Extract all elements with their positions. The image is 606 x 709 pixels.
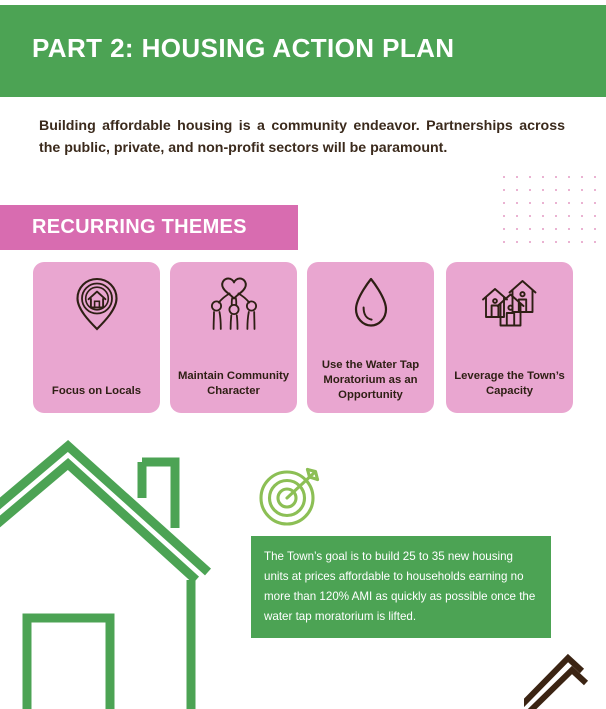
dot-grid-dot (542, 215, 544, 217)
dot-grid-dot (529, 176, 531, 178)
theme-card-label: Use the Water Tap Moratorium as an Oppor… (313, 358, 428, 403)
dot-grid-dot (568, 176, 570, 178)
recurring-themes-label: RECURRING THEMES (32, 216, 247, 239)
theme-card-label: Maintain Community Character (176, 369, 291, 399)
theme-card-water-tap-moratorium[interactable]: Use the Water Tap Moratorium as an Oppor… (307, 262, 434, 413)
community-heart-icon (170, 274, 297, 334)
dot-grid-dot (581, 202, 583, 204)
dot-grid-dot (503, 176, 505, 178)
dot-grid-dot (581, 176, 583, 178)
dot-grid-dot (542, 228, 544, 230)
dot-grid-dot (581, 189, 583, 191)
dot-grid-dot (594, 189, 596, 191)
dot-grid-dot (529, 189, 531, 191)
recurring-themes-banner: RECURRING THEMES (0, 205, 298, 250)
theme-card-focus-on-locals[interactable]: Focus on Locals (33, 262, 160, 413)
dot-grid-dot (516, 189, 518, 191)
theme-card-list: Focus on Locals (33, 262, 573, 413)
page-title: PART 2: HOUSING ACTION PLAN (32, 33, 454, 64)
dot-grid-dot (503, 215, 505, 217)
goal-callout-box: The Town’s goal is to build 25 to 35 new… (251, 536, 551, 638)
dot-grid-dot (594, 176, 596, 178)
location-pin-house-icon (33, 274, 160, 334)
dot-grid-dot (555, 228, 557, 230)
dot-grid-dot (529, 215, 531, 217)
dot-grid-dot (568, 215, 570, 217)
dot-grid-dot (516, 202, 518, 204)
dot-grid-dot (594, 202, 596, 204)
dot-grid-dot (594, 241, 596, 243)
dot-grid-dot (581, 241, 583, 243)
target-arrow-icon (255, 464, 327, 528)
dot-grid-dot (555, 176, 557, 178)
dot-grid-dot (503, 189, 505, 191)
goal-callout-text: The Town’s goal is to build 25 to 35 new… (264, 547, 539, 627)
theme-card-label: Focus on Locals (39, 384, 154, 399)
dot-grid-dot (503, 228, 505, 230)
dot-grid-dot (503, 241, 505, 243)
dot-grid-dot (542, 189, 544, 191)
water-drop-icon (307, 274, 434, 334)
chevron-decoration (524, 645, 606, 709)
dot-grid-dot (555, 202, 557, 204)
dot-grid-dot (581, 215, 583, 217)
dot-grid-dot (542, 202, 544, 204)
dot-grid-dot (555, 241, 557, 243)
three-houses-icon (446, 274, 573, 334)
dot-grid-dot (516, 215, 518, 217)
dot-grid-dot (555, 215, 557, 217)
dot-grid-dot (542, 241, 544, 243)
dot-grid-dot (568, 202, 570, 204)
dot-grid-dot (529, 228, 531, 230)
infographic-page: PART 2: HOUSING ACTION PLAN Building aff… (0, 0, 606, 709)
dot-grid-dot (516, 241, 518, 243)
theme-card-maintain-community-character[interactable]: Maintain Community Character (170, 262, 297, 413)
theme-card-label: Leverage the Town’s Capacity (452, 369, 567, 399)
dot-grid-dot (568, 241, 570, 243)
dot-grid-dot (516, 176, 518, 178)
dot-grid-dot (555, 189, 557, 191)
theme-card-leverage-towns-capacity[interactable]: Leverage the Town’s Capacity (446, 262, 573, 413)
house-outline-graphic (0, 432, 232, 709)
dot-grid-dot (594, 228, 596, 230)
intro-paragraph: Building affordable housing is a communi… (39, 115, 565, 159)
dot-grid-dot (542, 176, 544, 178)
header-bar: PART 2: HOUSING ACTION PLAN (0, 5, 606, 97)
dot-grid-dot (503, 202, 505, 204)
dot-grid-dot (594, 215, 596, 217)
dot-grid-decoration (503, 176, 606, 248)
dot-grid-dot (581, 228, 583, 230)
dot-grid-dot (516, 228, 518, 230)
dot-grid-dot (568, 228, 570, 230)
dot-grid-dot (529, 241, 531, 243)
dot-grid-dot (568, 189, 570, 191)
dot-grid-dot (529, 202, 531, 204)
